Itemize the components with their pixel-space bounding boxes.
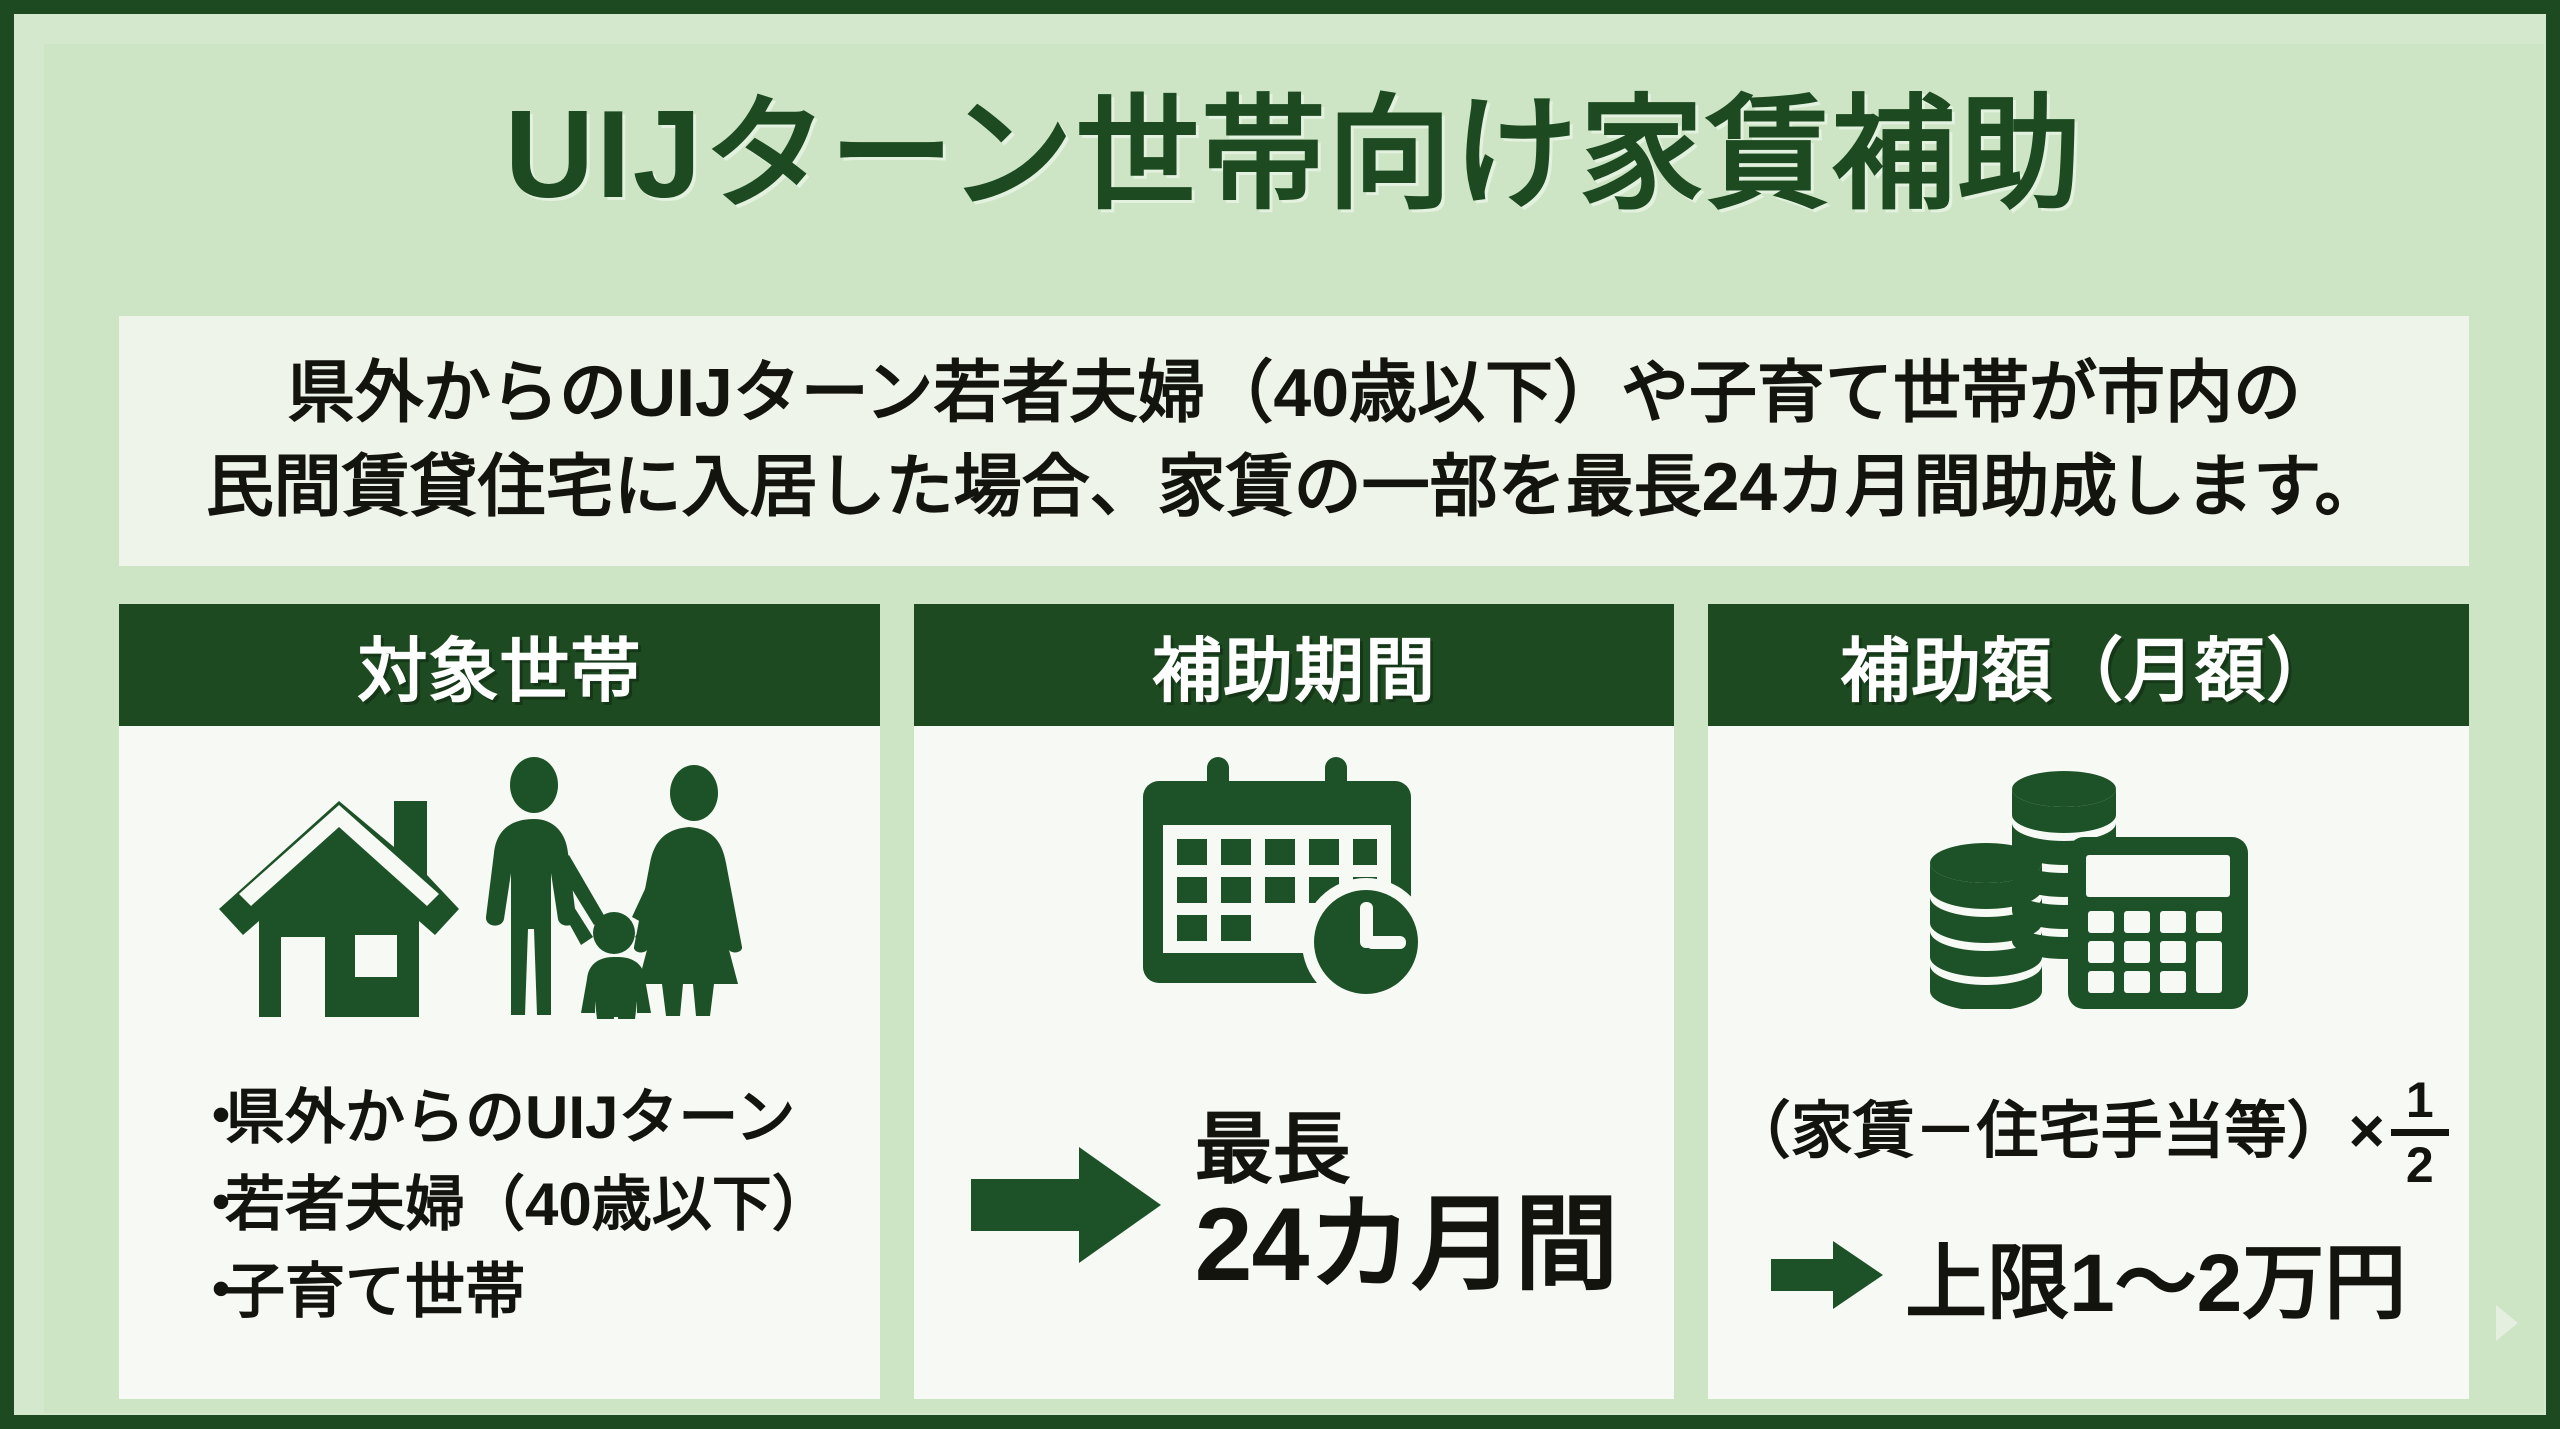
poster-frame: UIJターン世帯向け家賃補助 県外からのUIJターン若者夫婦（40歳以下）や子育… [0,0,2560,1429]
infographic-poster: UIJターン世帯向け家賃補助 県外からのUIJターン若者夫婦（40歳以下）や子育… [0,0,2560,1429]
column-body-target-households: ・ 県外からのUIJターン ・ 若者夫婦（40歳以下） ・ 子育て世帯 [119,726,880,1399]
column-header-subsidy-amount: 補助額（月額） [1708,604,2469,726]
column-body-subsidy-period: 最長 24カ月間 [914,726,1675,1399]
corner-triangle-icon [2496,1305,2518,1341]
column-subsidy-period: 補助期間 [914,604,1675,1399]
house-family-icon [189,749,809,1019]
bullet-text: 若者夫婦（40歳以下） [225,1161,832,1248]
fraction-bar [2391,1129,2449,1136]
column-header-target-households: 対象世帯 [119,604,880,726]
right-arrow-icon [971,1145,1161,1265]
column-body-subsidy-amount: （家賃－住宅手当等）× 1 2 [1708,726,2469,1399]
page-title: UIJターン世帯向け家賃補助 [44,84,2544,227]
list-item: ・ 県外からのUIJターン [191,1074,860,1161]
bullet-marker-icon: ・ [191,1074,225,1161]
poster-panel: UIJターン世帯向け家賃補助 県外からのUIJターン若者夫婦（40歳以下）や子育… [44,44,2544,1413]
bullet-text: 子育て世帯 [225,1248,525,1335]
subsidy-limit-row: 上限1〜2万円 [1771,1216,2406,1335]
subsidy-amount-body: （家賃－住宅手当等）× 1 2 [1718,1024,2459,1385]
fraction-numerator: 1 [2398,1075,2442,1129]
calendar-clock-icon [1129,749,1459,1019]
bullet-text: 県外からのUIJターン [225,1074,795,1161]
formula-expression: （家賃－住宅手当等）× [1729,1101,2385,1163]
list-item: ・ 子育て世帯 [191,1248,860,1335]
columns-container: 対象世帯 [119,604,2469,1399]
subsidy-limit-text: 上限1〜2万円 [1905,1216,2406,1335]
subsidy-formula: （家賃－住宅手当等）× 1 2 [1729,1075,2449,1190]
period-row: 最長 24カ月間 [924,1024,1665,1385]
coins-calculator-icon [1924,759,2254,1009]
column-header-subsidy-period: 補助期間 [914,604,1675,726]
period-line-1: 最長 [1195,1109,1351,1191]
period-line-2: 24カ月間 [1195,1191,1618,1300]
description-box: 県外からのUIJターン若者夫婦（40歳以下）や子育て世帯が市内の 民間賃貸住宅に… [119,316,2469,566]
description-line-1: 県外からのUIJターン若者夫婦（40歳以下）や子育て世帯が市内の [287,347,2301,441]
bullet-marker-icon: ・ [191,1161,225,1248]
calendar-clock-icon-zone [924,744,1665,1024]
right-arrow-icon [1771,1239,1883,1311]
column-subsidy-amount: 補助額（月額） [1708,604,2469,1399]
coins-calculator-icon-zone [1718,744,2459,1024]
fraction-denominator: 2 [2398,1136,2442,1190]
house-family-icon-zone [129,744,870,1024]
period-text: 最長 24カ月間 [1195,1109,1618,1300]
bullet-marker-icon: ・ [191,1248,225,1335]
description-line-2: 民間賃貸住宅に入居した場合、家賃の一部を最長24カ月間助成します。 [206,441,2383,535]
column-target-households: 対象世帯 [119,604,880,1399]
fraction-one-half: 1 2 [2391,1075,2449,1190]
target-household-bullets: ・ 県外からのUIJターン ・ 若者夫婦（40歳以下） ・ 子育て世帯 [129,1024,870,1385]
list-item: ・ 若者夫婦（40歳以下） [191,1161,860,1248]
